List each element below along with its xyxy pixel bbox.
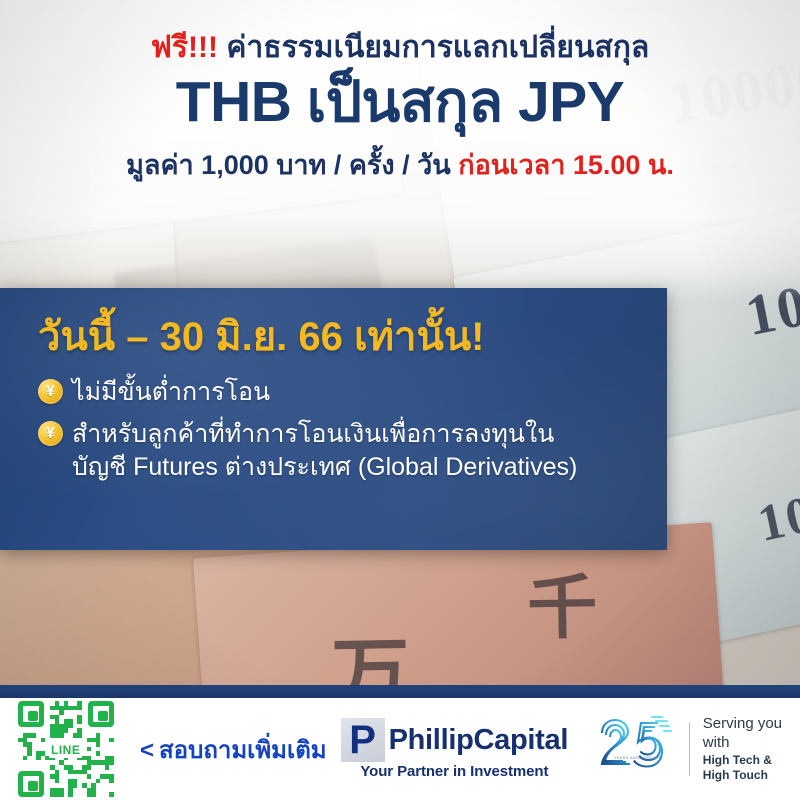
promo-panel: วันนี้ – 30 มิ.ย. 66 เท่านั้น! ¥ ไม่มีขั…: [0, 288, 667, 550]
contact-prompt[interactable]: <สอบถามเพิ่มเติม: [140, 730, 327, 769]
divider: [689, 722, 690, 776]
main-headline: THB เป็นสกุล JPY: [26, 71, 774, 135]
bullet-line-1: ไม่มีขั้นต่ำการโอน: [72, 378, 270, 406]
qr-eye-icon: [88, 701, 114, 727]
value-line: มูลค่า 1,000 บาท / ครั้ง / วัน ก่อนเวลา …: [26, 149, 774, 181]
qr-brand-label: LINE: [49, 742, 82, 758]
value-deadline: ก่อนเวลา 15.00 น.: [458, 150, 674, 180]
footer: LINE <สอบถามเพิ่มเติม P PhillipCapital Y…: [0, 698, 800, 800]
promo-period-heading: วันนี้ – 30 มิ.ย. 66 เท่านั้น!: [38, 314, 667, 360]
qr-code-image[interactable]: LINE: [18, 701, 114, 797]
bullet-line-1: สำหรับลูกค้าที่ทำการโอนเงินเพื่อการลงทุน…: [72, 420, 554, 448]
list-item: ¥ สำหรับลูกค้าที่ทำการโอนเงินเพื่อการลงท…: [38, 418, 667, 484]
value-amount: มูลค่า 1,000 บาท / ครั้ง / วัน: [126, 150, 451, 180]
anniversary-tiny-text: YEARS ANNIVERSARY: [614, 756, 661, 760]
brand-tagline: Your Partner in Investment: [360, 763, 548, 780]
headline-block: ฟรี!!! ค่าธรรมเนียมการแลกเปลี่ยนสกุล THB…: [0, 30, 800, 182]
bullet-line-2: บัญชี Futures ต่างประเทศ (Global Derivat…: [72, 451, 577, 484]
fee-description: ค่าธรรมเนียมการแลกเปลี่ยนสกุล: [226, 31, 649, 64]
list-item: ¥ ไม่มีขั้นต่ำการโอน: [38, 376, 667, 409]
phillip-p-mark-icon: P: [341, 718, 385, 762]
serving-line-1: Serving you with: [703, 715, 800, 753]
brand-name: PhillipCapital: [389, 724, 569, 757]
footer-divider-bar: [0, 685, 800, 698]
line-qr-code[interactable]: LINE: [18, 701, 114, 797]
promo-poster: 10000 1000 10000 円 万 千 ฟรี!!! ค่าธรรมเนี…: [0, 0, 800, 800]
caret-left-icon: <: [140, 737, 154, 764]
bullet-text: ไม่มีขั้นต่ำการโอน: [72, 376, 270, 409]
bullet-text: สำหรับลูกค้าที่ทำการโอนเงินเพื่อการลงทุน…: [72, 418, 577, 484]
contact-prompt-label: สอบถามเพิ่มเติม: [159, 737, 327, 764]
anniversary-25-icon: YEARS ANNIVERSARY: [590, 713, 676, 785]
qr-eye-icon: [18, 771, 44, 797]
serving-line-2: High Tech & High Touch: [703, 753, 800, 783]
qr-eye-icon: [18, 701, 44, 727]
yen-symbol: ¥: [46, 426, 55, 442]
anniversary-badge: YEARS ANNIVERSARY Serving you with High …: [590, 713, 800, 785]
promo-bullet-list: ¥ ไม่มีขั้นต่ำการโอน ¥ สำหรับลูกค้าที่ทำ…: [38, 376, 667, 484]
yen-coin-icon: ¥: [38, 421, 63, 446]
yen-coin-icon: ¥: [38, 379, 63, 404]
free-word: ฟรี!!!: [151, 31, 218, 64]
phillipcapital-logo: P PhillipCapital Your Partner in Investm…: [341, 718, 569, 780]
serving-slogan: Serving you with High Tech & High Touch: [703, 715, 800, 783]
yen-symbol: ¥: [46, 384, 55, 400]
phillip-letter: P: [349, 722, 376, 758]
free-fee-line: ฟรี!!! ค่าธรรมเนียมการแลกเปลี่ยนสกุล: [26, 30, 774, 65]
